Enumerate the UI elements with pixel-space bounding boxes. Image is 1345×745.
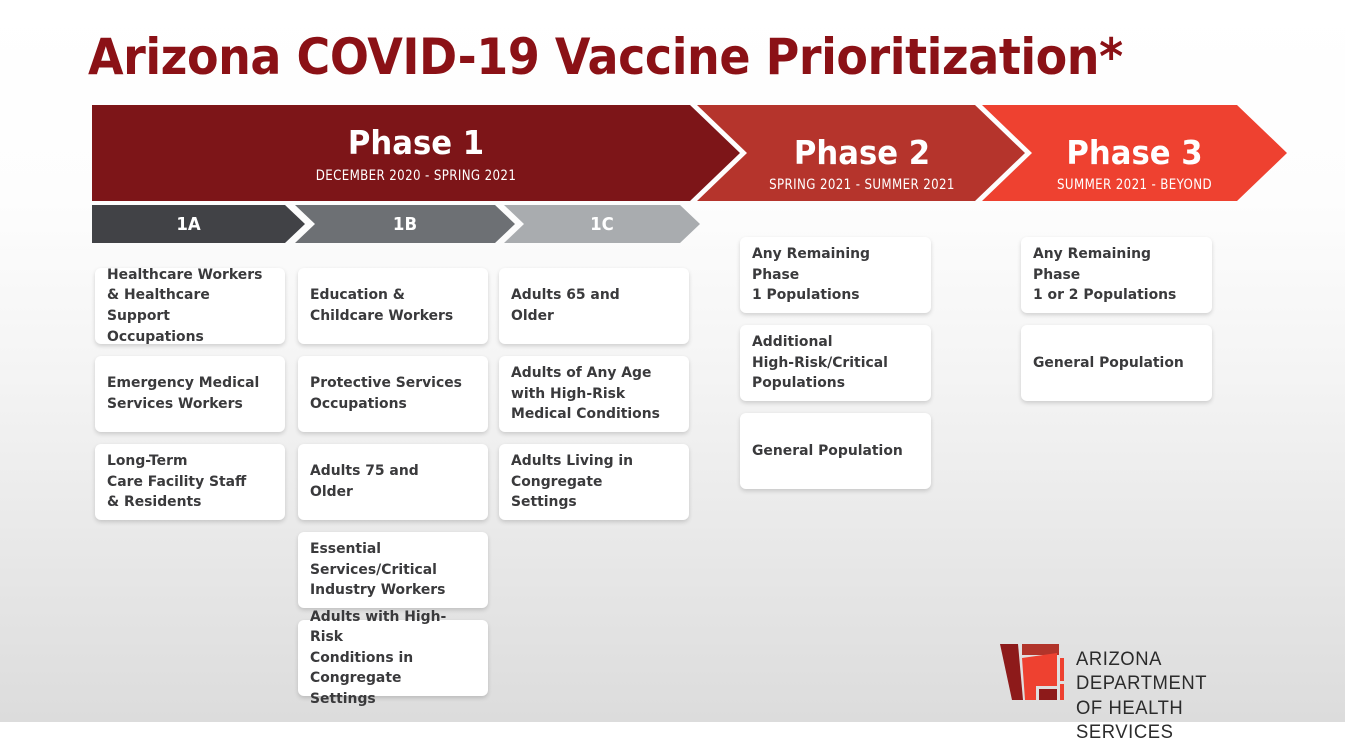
population-card-text: General Population [752, 441, 903, 462]
population-card-text: Adults of Any Age with High-Risk Medical… [511, 363, 660, 425]
subphase-1c-label: 1C [528, 214, 675, 235]
population-card-text: Adults 65 and Older [511, 285, 620, 326]
infographic-page: Arizona COVID-19 Vaccine Prioritization*… [0, 0, 1345, 722]
phase-2-arrow: Phase 2 SPRING 2021 - SUMMER 2021 [697, 105, 1025, 201]
population-card: General Population [1021, 325, 1212, 401]
population-card: Long-Term Care Facility Staff & Resident… [95, 444, 285, 520]
phase-banner: Phase 1 DECEMBER 2020 - SPRING 2021 Phas… [92, 105, 1287, 201]
card-column-phase2: Any Remaining Phase 1 PopulationsAdditio… [740, 237, 931, 501]
population-card: Adults of Any Age with High-Risk Medical… [499, 356, 689, 432]
subphase-1c-arrow: 1C [504, 205, 700, 243]
population-card: Adults with High-Risk Conditions in Cong… [298, 620, 488, 696]
population-card-text: General Population [1033, 353, 1184, 374]
adhs-logo-text: ARIZONA DEPARTMENT OF HEALTH SERVICES [1076, 648, 1262, 745]
population-card: Any Remaining Phase 1 or 2 Populations [1021, 237, 1212, 313]
arizona-department-logo-icon [998, 641, 1064, 703]
population-card-text: Adults Living in Congregate Settings [511, 451, 670, 513]
card-column-1b: Education & Childcare WorkersProtective … [298, 268, 488, 708]
population-card: Emergency Medical Services Workers [95, 356, 285, 432]
subphase-1a-arrow: 1A [92, 205, 305, 243]
page-title: Arizona COVID-19 Vaccine Prioritization* [88, 28, 1123, 86]
phase-3-label: Phase 3 [1035, 133, 1235, 172]
phase-3-dates: SUMMER 2021 - BEYOND [1033, 177, 1235, 193]
card-column-1a: Healthcare Workers & Healthcare Support … [95, 268, 285, 532]
card-column-1c: Adults 65 and OlderAdults of Any Age wit… [499, 268, 689, 532]
population-card: Healthcare Workers & Healthcare Support … [95, 268, 285, 344]
population-card: Additional High-Risk/Critical Population… [740, 325, 931, 401]
population-card: General Population [740, 413, 931, 489]
subphase-1b-label: 1B [320, 214, 489, 235]
population-card-text: Protective Services Occupations [310, 373, 462, 414]
subphase-1a-label: 1A [100, 214, 278, 235]
population-card: Adults 65 and Older [499, 268, 689, 344]
adhs-logo: ARIZONA DEPARTMENT OF HEALTH SERVICES [998, 641, 1268, 703]
population-card-text: Adults 75 and Older [310, 461, 419, 502]
phase-2-dates: SPRING 2021 - SUMMER 2021 [749, 177, 975, 193]
population-card-text: Education & Childcare Workers [310, 285, 453, 326]
population-card-text: Essential Services/Critical Industry Wor… [310, 539, 445, 601]
population-card-text: Adults with High-Risk Conditions in Cong… [310, 607, 469, 710]
population-card: Education & Childcare Workers [298, 268, 488, 344]
population-card: Adults Living in Congregate Settings [499, 444, 689, 520]
population-card-text: Any Remaining Phase 1 or 2 Populations [1033, 244, 1193, 306]
phase-1-arrow: Phase 1 DECEMBER 2020 - SPRING 2021 [92, 105, 740, 201]
population-card-text: Any Remaining Phase 1 Populations [752, 244, 912, 306]
subphase-row: 1A 1B 1C [92, 205, 702, 243]
population-card-text: Emergency Medical Services Workers [107, 373, 259, 414]
subphase-1b-arrow: 1B [295, 205, 515, 243]
population-card-text: Long-Term Care Facility Staff & Resident… [107, 451, 246, 513]
phase-1-dates: DECEMBER 2020 - SPRING 2021 [111, 168, 720, 184]
population-card: Protective Services Occupations [298, 356, 488, 432]
population-card-text: Healthcare Workers & Healthcare Support … [107, 265, 266, 347]
population-card-text: Additional High-Risk/Critical Population… [752, 332, 888, 394]
phase-2-label: Phase 2 [750, 133, 973, 172]
population-card: Adults 75 and Older [298, 444, 488, 520]
population-card: Essential Services/Critical Industry Wor… [298, 532, 488, 608]
population-card: Any Remaining Phase 1 Populations [740, 237, 931, 313]
phase-3-arrow: Phase 3 SUMMER 2021 - BEYOND [982, 105, 1287, 201]
card-column-phase3: Any Remaining Phase 1 or 2 PopulationsGe… [1021, 237, 1212, 413]
phase-1-label: Phase 1 [115, 123, 718, 162]
